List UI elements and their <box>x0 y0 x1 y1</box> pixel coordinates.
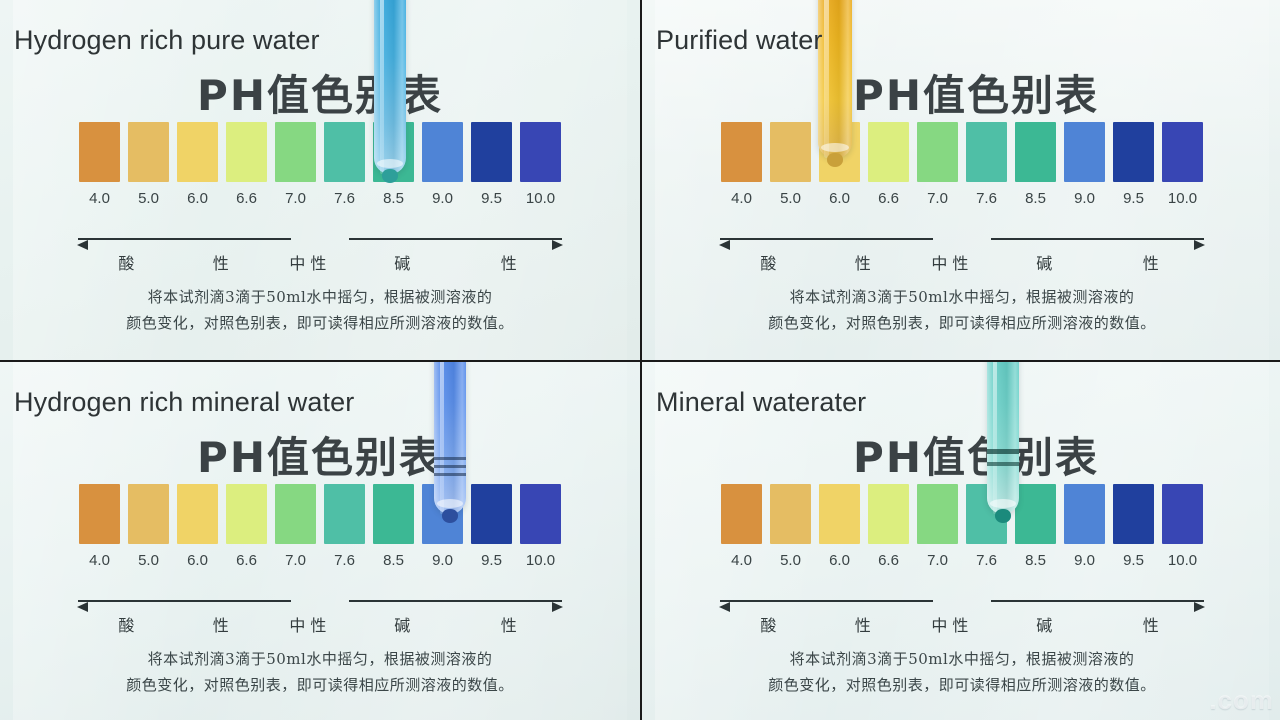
label-alkaline-1: 碱 <box>991 250 1097 274</box>
ph-swatch-value: 4.0 <box>721 190 762 207</box>
ph-swatch-item: 10.0 <box>1162 122 1203 207</box>
ph-swatch-value: 6.0 <box>177 552 218 569</box>
instruction-text: 将本试剂滴3滴于50ml水中摇匀，根据被测溶液的 颜色变化，对照色别表，即可读得… <box>0 284 640 336</box>
ph-swatch-item: 4.0 <box>721 484 762 569</box>
ph-swatch-value: 6.6 <box>226 190 267 207</box>
acid-arrow-line <box>78 238 291 240</box>
ph-swatch-item: 7.0 <box>917 122 958 207</box>
ph-swatch-value: 9.0 <box>1064 190 1105 207</box>
ph-swatch-color <box>721 484 762 544</box>
ph-swatch-row: 4.05.06.06.67.07.68.59.09.510.0 <box>642 484 1280 569</box>
ph-swatch-value: 6.6 <box>226 552 267 569</box>
label-neutral-2: 性 <box>952 254 968 273</box>
ph-swatch-item: 6.0 <box>177 484 218 569</box>
label-alkaline-2: 性 <box>455 250 561 274</box>
ph-swatch-item: 6.0 <box>177 122 218 207</box>
ph-swatch-item: 5.0 <box>770 122 811 207</box>
base-arrow-line <box>991 238 1204 240</box>
ph-swatch-color <box>128 122 169 182</box>
panel-purified-water: Purified water PH值色别表 4.05.06.06.67.07.6… <box>642 0 1280 360</box>
ph-swatch-item: 9.5 <box>1113 122 1154 207</box>
left-arrow-head-icon <box>719 240 730 250</box>
ph-swatch-item: 9.5 <box>1113 484 1154 569</box>
label-neutral-1: 中 <box>931 254 947 273</box>
tube-glass <box>818 0 852 158</box>
ph-swatch-row: 4.05.06.06.67.07.68.59.09.510.0 <box>0 484 640 569</box>
ph-swatch-value: 5.0 <box>128 552 169 569</box>
instruction-line-1: 将本试剂滴3滴于50ml水中摇匀，根据被测溶液的 <box>642 646 1280 672</box>
ph-swatch-item: 7.6 <box>324 484 365 569</box>
tube-droplet <box>382 169 398 183</box>
left-arrow-head-icon <box>77 602 88 612</box>
ph-swatch-color <box>275 122 316 182</box>
ph-swatch-item: 8.5 <box>373 484 414 569</box>
panel-title-chinese: PH值色别表 <box>0 62 640 123</box>
ph-swatch-color <box>79 122 120 182</box>
panel-mineral-water: Mineral waterater PH值色别表 4.05.06.06.67.0… <box>642 362 1280 720</box>
tube-droplet <box>827 153 843 167</box>
ph-scale-arrows <box>720 594 1204 610</box>
ph-swatch-item: 6.6 <box>868 122 909 207</box>
ph-swatch-value: 6.6 <box>868 190 909 207</box>
ph-swatch-color <box>324 484 365 544</box>
instruction-line-2: 颜色变化，对照色别表，即可读得相应所测溶液的数值。 <box>642 672 1280 698</box>
tube-glass <box>374 0 406 174</box>
panel-title-english: Hydrogen rich mineral water <box>14 387 354 418</box>
label-acidic-1: 酸 <box>78 612 175 636</box>
ph-swatch-value: 9.0 <box>422 190 463 207</box>
panel-title-english: Mineral waterater <box>656 387 866 418</box>
panel-title-english: Purified water <box>656 25 822 56</box>
label-neutral-1: 中 <box>931 616 947 635</box>
ph-swatch-item: 6.6 <box>226 122 267 207</box>
ph-scale-labels: 酸 性 中 性 碱 性 <box>720 612 1204 636</box>
right-arrow-head-icon <box>552 240 563 250</box>
tube-reflection-ring <box>987 462 1019 466</box>
instruction-text: 将本试剂滴3滴于50ml水中摇匀，根据被测溶液的 颜色变化，对照色别表，即可读得… <box>642 646 1280 698</box>
ph-swatch-value: 9.5 <box>1113 190 1154 207</box>
acid-arrow-line <box>720 238 933 240</box>
label-alkaline-2: 性 <box>455 612 561 636</box>
ph-swatch-value: 6.6 <box>868 552 909 569</box>
label-neutral-1: 中 <box>289 254 305 273</box>
ph-swatch-color <box>324 122 365 182</box>
ph-swatch-item: 9.0 <box>1064 484 1105 569</box>
tube-highlight <box>380 0 384 174</box>
ph-swatch-value: 6.0 <box>177 190 218 207</box>
ph-swatch-color <box>1113 484 1154 544</box>
ph-swatch-color <box>520 122 561 182</box>
ph-swatch-color <box>128 484 169 544</box>
label-acidic-1: 酸 <box>720 250 817 274</box>
label-neutral: 中 性 <box>909 250 991 274</box>
ph-swatch-item: 7.6 <box>966 122 1007 207</box>
tube-meniscus <box>990 499 1016 508</box>
tube-reflection-ring <box>434 457 466 460</box>
ph-swatch-color <box>471 122 512 182</box>
ph-swatch-item: 5.0 <box>770 484 811 569</box>
label-acidic-2: 性 <box>817 612 909 636</box>
label-neutral-1: 中 <box>289 616 305 635</box>
tube-reflection-ring <box>434 465 466 468</box>
ph-swatch-color <box>917 122 958 182</box>
label-alkaline-2: 性 <box>1097 250 1203 274</box>
ph-swatch-item: 9.0 <box>422 122 463 207</box>
ph-swatch-item: 7.6 <box>324 122 365 207</box>
ph-swatch-value: 7.6 <box>324 552 365 569</box>
label-alkaline-1: 碱 <box>349 250 455 274</box>
ph-swatch-value: 4.0 <box>721 552 762 569</box>
ph-swatch-color <box>520 484 561 544</box>
ph-swatch-value: 4.0 <box>79 190 120 207</box>
right-arrow-head-icon <box>1194 602 1205 612</box>
test-tube-hydrogen-rich-mineral-water <box>434 362 466 514</box>
test-tube-mineral-water <box>987 362 1019 514</box>
ph-scale-arrows <box>720 232 1204 248</box>
ph-swatch-color <box>471 484 512 544</box>
ph-swatch-item: 6.6 <box>226 484 267 569</box>
label-alkaline-1: 碱 <box>991 612 1097 636</box>
ph-swatch-color <box>1162 122 1203 182</box>
label-alkaline-1: 碱 <box>349 612 455 636</box>
ph-scale-arrows <box>78 232 562 248</box>
label-neutral: 中 性 <box>267 612 349 636</box>
ph-swatch-value: 7.0 <box>275 190 316 207</box>
ph-swatch-value: 7.6 <box>966 552 1007 569</box>
ph-swatch-color <box>1113 122 1154 182</box>
right-arrow-head-icon <box>552 602 563 612</box>
ph-swatch-color <box>226 122 267 182</box>
ph-swatch-item: 5.0 <box>128 484 169 569</box>
ph-swatch-color <box>868 122 909 182</box>
ph-swatch-item: 8.5 <box>1015 122 1056 207</box>
ph-swatch-value: 9.0 <box>1064 552 1105 569</box>
ph-swatch-value: 8.5 <box>1015 190 1056 207</box>
panel-title-chinese: PH值色别表 <box>0 424 640 485</box>
ph-swatch-color <box>1064 484 1105 544</box>
ph-swatch-color <box>868 484 909 544</box>
ph-swatch-value: 5.0 <box>128 190 169 207</box>
panel-title-chinese: PH值色别表 <box>642 424 1280 485</box>
ph-swatch-value: 9.5 <box>471 190 512 207</box>
tube-meniscus <box>821 143 848 152</box>
tube-highlight <box>993 362 997 514</box>
panel-hydrogen-rich-mineral-water: Hydrogen rich mineral water PH值色别表 4.05.… <box>0 362 640 720</box>
ph-swatch-item: 7.0 <box>275 122 316 207</box>
instruction-line-2: 颜色变化，对照色别表，即可读得相应所测溶液的数值。 <box>0 672 640 698</box>
ph-swatch-value: 5.0 <box>770 190 811 207</box>
acid-arrow-line <box>720 600 933 602</box>
ph-comparison-grid: Hydrogen rich pure water PH值色别表 4.05.06.… <box>0 0 1280 720</box>
tube-highlight <box>824 0 829 158</box>
ph-swatch-color <box>1015 484 1056 544</box>
ph-scale-arrows <box>78 594 562 610</box>
ph-swatch-value: 4.0 <box>79 552 120 569</box>
ph-swatch-value: 10.0 <box>520 552 561 569</box>
tube-reflection-ring <box>434 473 466 476</box>
base-arrow-line <box>349 238 562 240</box>
ph-swatch-color <box>966 122 1007 182</box>
ph-swatch-value: 9.0 <box>422 552 463 569</box>
ph-swatch-item: 9.5 <box>471 122 512 207</box>
tube-reflection-ring <box>987 449 1019 454</box>
label-neutral-2: 性 <box>952 616 968 635</box>
ph-swatch-color <box>819 484 860 544</box>
tube-droplet <box>995 509 1011 523</box>
ph-swatch-value: 7.0 <box>275 552 316 569</box>
ph-swatch-value: 10.0 <box>1162 552 1203 569</box>
label-acidic-1: 酸 <box>78 250 175 274</box>
ph-swatch-value: 7.0 <box>917 552 958 569</box>
ph-swatch-row: 4.05.06.06.67.07.68.59.09.510.0 <box>0 122 640 207</box>
ph-swatch-item: 6.0 <box>819 484 860 569</box>
instruction-line-1: 将本试剂滴3滴于50ml水中摇匀，根据被测溶液的 <box>0 646 640 672</box>
ph-scale-labels: 酸 性 中 性 碱 性 <box>78 612 562 636</box>
label-acidic-1: 酸 <box>720 612 817 636</box>
ph-swatch-item: 10.0 <box>520 122 561 207</box>
acid-arrow-line <box>78 600 291 602</box>
right-arrow-head-icon <box>1194 240 1205 250</box>
left-arrow-head-icon <box>77 240 88 250</box>
ph-swatch-item: 4.0 <box>721 122 762 207</box>
ph-swatch-color <box>422 122 463 182</box>
ph-swatch-item: 5.0 <box>128 122 169 207</box>
ph-swatch-color <box>177 484 218 544</box>
instruction-line-2: 颜色变化，对照色别表，即可读得相应所测溶液的数值。 <box>0 310 640 336</box>
panel-hydrogen-rich-pure-water: Hydrogen rich pure water PH值色别表 4.05.06.… <box>0 0 640 360</box>
ph-swatch-color <box>373 484 414 544</box>
label-neutral: 中 性 <box>267 250 349 274</box>
ph-swatch-item: 9.5 <box>471 484 512 569</box>
instruction-line-1: 将本试剂滴3滴于50ml水中摇匀，根据被测溶液的 <box>0 284 640 310</box>
ph-swatch-value: 9.5 <box>471 552 512 569</box>
ph-swatch-item: 8.5 <box>1015 484 1056 569</box>
label-acidic-2: 性 <box>817 250 909 274</box>
panel-title-chinese: PH值色别表 <box>642 62 1280 123</box>
ph-swatch-value: 10.0 <box>1162 190 1203 207</box>
ph-swatch-color <box>770 122 811 182</box>
label-acidic-2: 性 <box>175 612 267 636</box>
ph-swatch-value: 6.0 <box>819 552 860 569</box>
left-arrow-head-icon <box>719 602 730 612</box>
ph-swatch-item: 10.0 <box>520 484 561 569</box>
ph-swatch-row: 4.05.06.06.67.07.68.59.09.510.0 <box>642 122 1280 207</box>
test-tube-purified-water <box>818 0 852 158</box>
ph-swatch-item: 6.6 <box>868 484 909 569</box>
tube-highlight <box>440 362 444 514</box>
panel-title-english: Hydrogen rich pure water <box>14 25 320 56</box>
label-neutral-2: 性 <box>310 616 326 635</box>
ph-swatch-item: 7.0 <box>275 484 316 569</box>
ph-swatch-color <box>917 484 958 544</box>
ph-swatch-color <box>275 484 316 544</box>
ph-swatch-color <box>1015 122 1056 182</box>
label-neutral: 中 性 <box>909 612 991 636</box>
base-arrow-line <box>349 600 562 602</box>
ph-swatch-item: 4.0 <box>79 122 120 207</box>
tube-meniscus <box>377 159 403 168</box>
ph-scale-labels: 酸 性 中 性 碱 性 <box>78 250 562 274</box>
ph-swatch-item: 9.0 <box>1064 122 1105 207</box>
instruction-text: 将本试剂滴3滴于50ml水中摇匀，根据被测溶液的 颜色变化，对照色别表，即可读得… <box>642 284 1280 336</box>
ph-swatch-color <box>1162 484 1203 544</box>
ph-swatch-value: 7.0 <box>917 190 958 207</box>
tube-meniscus <box>437 499 463 508</box>
ph-swatch-item: 7.0 <box>917 484 958 569</box>
ph-swatch-item: 4.0 <box>79 484 120 569</box>
instruction-line-2: 颜色变化，对照色别表，即可读得相应所测溶液的数值。 <box>642 310 1280 336</box>
ph-swatch-value: 6.0 <box>819 190 860 207</box>
ph-swatch-color <box>79 484 120 544</box>
ph-swatch-value: 8.5 <box>1015 552 1056 569</box>
ph-swatch-color <box>721 122 762 182</box>
tube-droplet <box>442 509 458 523</box>
test-tube-hydrogen-rich-pure-water <box>374 0 406 174</box>
tube-glass <box>434 362 466 514</box>
ph-swatch-item: 10.0 <box>1162 484 1203 569</box>
ph-scale-labels: 酸 性 中 性 碱 性 <box>720 250 1204 274</box>
label-alkaline-2: 性 <box>1097 612 1203 636</box>
label-neutral-2: 性 <box>310 254 326 273</box>
base-arrow-line <box>991 600 1204 602</box>
tube-glass <box>987 362 1019 514</box>
ph-swatch-color <box>226 484 267 544</box>
ph-swatch-value: 7.6 <box>324 190 365 207</box>
ph-swatch-value: 7.6 <box>966 190 1007 207</box>
ph-swatch-color <box>770 484 811 544</box>
ph-swatch-value: 8.5 <box>373 190 414 207</box>
ph-swatch-value: 10.0 <box>520 190 561 207</box>
label-acidic-2: 性 <box>175 250 267 274</box>
instruction-text: 将本试剂滴3滴于50ml水中摇匀，根据被测溶液的 颜色变化，对照色别表，即可读得… <box>0 646 640 698</box>
ph-swatch-value: 8.5 <box>373 552 414 569</box>
ph-swatch-color <box>1064 122 1105 182</box>
ph-swatch-value: 5.0 <box>770 552 811 569</box>
instruction-line-1: 将本试剂滴3滴于50ml水中摇匀，根据被测溶液的 <box>642 284 1280 310</box>
ph-swatch-color <box>177 122 218 182</box>
ph-swatch-value: 9.5 <box>1113 552 1154 569</box>
